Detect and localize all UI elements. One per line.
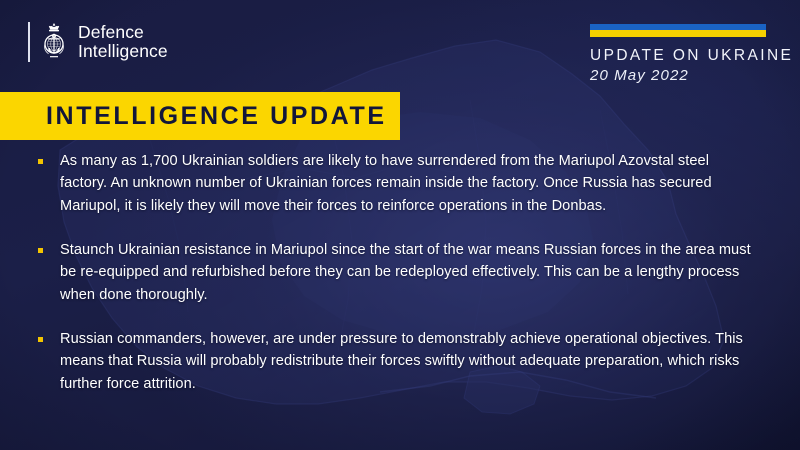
logo-divider-rule bbox=[28, 22, 30, 62]
list-item: Russian commanders, however, are under p… bbox=[38, 328, 754, 395]
bullet-text: As many as 1,700 Ukrainian soldiers are … bbox=[60, 150, 754, 217]
ukraine-flag-bar-icon bbox=[590, 24, 766, 37]
defence-intelligence-logo: Defence Intelligence bbox=[28, 22, 168, 62]
update-on-ukraine-block: UPDATE ON UKRAINE 20 May 2022 bbox=[590, 24, 778, 84]
list-item: Staunch Ukrainian resistance in Mariupol… bbox=[38, 239, 754, 306]
bullet-marker-icon bbox=[38, 337, 43, 342]
banner-title: INTELLIGENCE UPDATE bbox=[46, 102, 387, 131]
update-date: 20 May 2022 bbox=[590, 67, 778, 84]
intelligence-update-banner: INTELLIGENCE UPDATE bbox=[0, 92, 400, 140]
logo-line-intelligence: Intelligence bbox=[78, 42, 168, 61]
mod-defence-crest-icon bbox=[39, 22, 69, 62]
bullet-text: Staunch Ukrainian resistance in Mariupol… bbox=[60, 239, 754, 306]
list-item: As many as 1,700 Ukrainian soldiers are … bbox=[38, 150, 754, 217]
bullet-list: As many as 1,700 Ukrainian soldiers are … bbox=[38, 150, 754, 395]
logo-line-defence: Defence bbox=[78, 23, 168, 42]
bullet-text: Russian commanders, however, are under p… bbox=[60, 328, 754, 395]
intelligence-update-poster: Defence Intelligence UPDATE ON UKRAINE 2… bbox=[0, 0, 800, 450]
update-title: UPDATE ON UKRAINE bbox=[590, 46, 778, 65]
flag-stripe-yellow bbox=[590, 30, 766, 37]
bullet-marker-icon bbox=[38, 248, 43, 253]
bullet-marker-icon bbox=[38, 159, 43, 164]
